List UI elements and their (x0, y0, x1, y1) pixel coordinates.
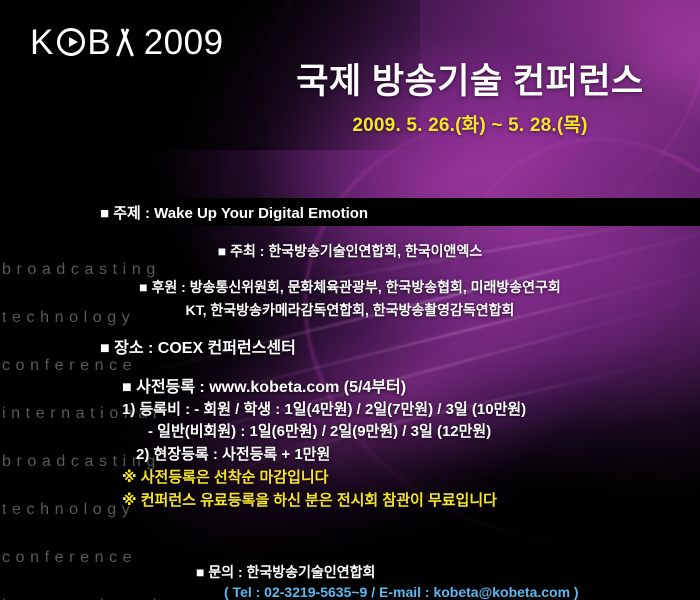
venue-line: ■ 장소 : COEX 컨퍼런스센터 (100, 334, 296, 358)
koba-logo-lockup: K B 2009 (30, 25, 224, 60)
fee-line-general: - 일반(비회원) : 1일(6만원) / 2일(9만원) / 3일 (12만원… (148, 420, 491, 441)
event-date: 2009. 5. 26.(화) ~ 5. 28.(목) (250, 110, 690, 137)
theme-text: ■ 주제 : Wake Up Your Digital Emotion (100, 202, 368, 223)
magenta-arc-1 (151, 0, 700, 309)
sponsor-line-1: ■ 후원 : 방송통신위원회, 문화체육관광부, 한국방송협회, 미래방송연구회 (0, 277, 700, 297)
notice-line-2: ※ 컨퍼런스 유료등록을 하신 분은 전시회 참관이 무료입니다 (122, 489, 497, 510)
logo-year: 2009 (144, 25, 224, 60)
preregistration-line[interactable]: ■ 사전등록 : www.kobeta.com (5/4부터) (122, 373, 406, 397)
watermark-line: conference (0, 358, 260, 374)
sponsor-line-2: KT, 한국방송카메라감독연합회, 한국방송촬영감독연합회 (0, 300, 700, 320)
magenta-arc-4 (381, 75, 700, 600)
lambda-a-icon (114, 28, 136, 56)
magenta-arc-2 (227, 0, 700, 378)
fee-line-member: 1) 등록비 : - 회원 / 학생 : 1일(4만원) / 2일(7만원) /… (122, 398, 526, 419)
circle-play-icon (57, 28, 85, 56)
koba-2009-poster: international broadcasting technology co… (0, 0, 700, 600)
koba-logo: K B 2009 (30, 20, 224, 64)
logo-letter-b: B (87, 25, 111, 60)
logo-letter-k: K (30, 25, 54, 60)
contact-line: ■ 문의 : 한국방송기술인연합회 (196, 562, 375, 582)
host-line: ■ 주최 : 한국방송기술인연합회, 한국이앤엑스 (0, 241, 700, 261)
onsite-registration-line: 2) 현장등록 : 사전등록 + 1만원 (136, 443, 330, 464)
contact-details[interactable]: ( Tel : 02-3219-5635~9 / E-mail : kobeta… (224, 584, 579, 600)
page-title: 국제 방송기술 컨퍼런스 (250, 62, 690, 101)
theme-band: ■ 주제 : Wake Up Your Digital Emotion (0, 198, 700, 226)
headline-block: 국제 방송기술 컨퍼런스 2009. 5. 26.(화) ~ 5. 28.(목) (250, 62, 690, 137)
notice-line-1: ※ 사전등록은 선착순 마감입니다 (122, 466, 329, 487)
watermark-line: broadcasting (0, 262, 260, 278)
